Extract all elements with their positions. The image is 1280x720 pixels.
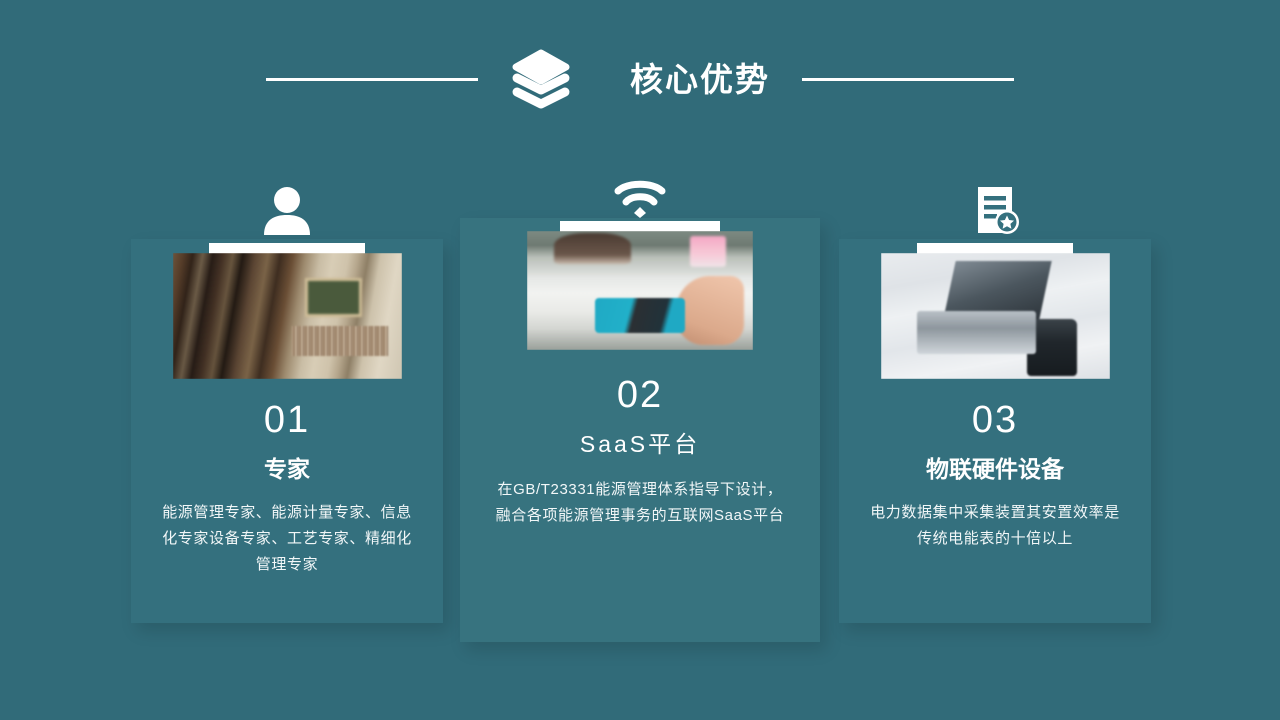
layers-icon: [510, 48, 572, 110]
meeting-photo: [527, 231, 753, 350]
certificate-star-icon: [839, 183, 1151, 235]
advantage-card-02[interactable]: 02 SaaS平台 在GB/T23331能源管理体系指导下设计，融合各项能源管理…: [460, 218, 820, 642]
cards-row: 01 专家 能源管理专家、能源计量专家、信息化专家设备专家、工艺专家、精细化管理…: [0, 165, 1280, 665]
card-photo-wrap: [460, 218, 820, 350]
card-description: 在GB/T23331能源管理体系指导下设计，融合各项能源管理事务的互联网SaaS…: [460, 477, 820, 530]
card-body: 01 专家 能源管理专家、能源计量专家、信息化专家设备专家、工艺专家、精细化管理…: [131, 401, 443, 579]
header-center: 核心优势: [510, 48, 770, 110]
card-photo-wrap: [131, 239, 443, 379]
slide-header: 核心优势: [0, 44, 1280, 114]
header-rule-right: [802, 78, 1014, 81]
laptop-desk-photo: [881, 253, 1110, 379]
photo-mug: [1027, 319, 1077, 377]
card-title: SaaS平台: [460, 425, 820, 459]
advantage-card-03[interactable]: 03 物联硬件设备 电力数据集中采集装置其安置效率是传统电能表的十倍以上: [839, 239, 1151, 623]
card-body: 03 物联硬件设备 电力数据集中采集装置其安置效率是传统电能表的十倍以上: [839, 401, 1151, 552]
card-description: 能源管理专家、能源计量专家、信息化专家设备专家、工艺专家、精细化管理专家: [131, 500, 443, 579]
card-number: 03: [839, 401, 1151, 441]
header-rule-left: [266, 78, 478, 81]
card-body: 02 SaaS平台 在GB/T23331能源管理体系指导下设计，融合各项能源管理…: [460, 376, 820, 529]
photo-hand: [676, 276, 744, 345]
card-title: 物联硬件设备: [839, 450, 1151, 484]
person-icon: [131, 183, 443, 235]
card-title: 专家: [131, 450, 443, 484]
page-title: 核心优势: [630, 63, 770, 96]
card-number: 02: [460, 376, 820, 416]
photo-cup: [690, 236, 726, 267]
card-number: 01: [131, 401, 443, 441]
card-description: 电力数据集中采集装置其安置效率是传统电能表的十倍以上: [839, 500, 1151, 553]
wifi-icon: [460, 166, 820, 218]
library-photo: [173, 253, 402, 379]
card-photo-wrap: [839, 239, 1151, 379]
advantage-card-01[interactable]: 01 专家 能源管理专家、能源计量专家、信息化专家设备专家、工艺专家、精细化管理…: [131, 239, 443, 623]
slide-root: 核心优势 01 专家 能源管理专家、能源计量专家、信息化: [0, 0, 1280, 720]
